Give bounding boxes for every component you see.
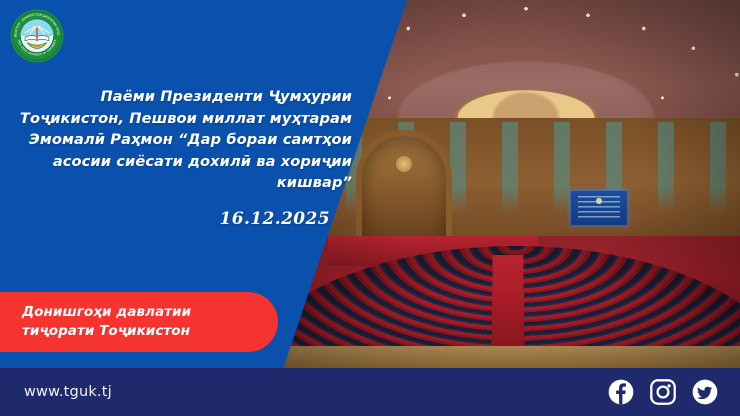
university-name-banner: Донишгоҳи давлатии тиҷорати Тоҷикистон [0, 292, 278, 352]
university-name-line-1: Донишгоҳи давлатии [22, 303, 191, 322]
instagram-icon[interactable] [650, 379, 676, 405]
footer-bar: www.tguk.tj [0, 368, 740, 416]
twitter-icon[interactable] [692, 379, 718, 405]
headline-line-1: Паёми Президенти Ҷумҳурии [0, 86, 352, 108]
social-links [608, 379, 718, 405]
event-date: 16.12.2025 [0, 209, 330, 229]
headline-text: Паёми Президенти Ҷумҳурии Тоҷикистон, Пе… [0, 86, 352, 194]
university-seal-logo: ТОҶИКИСТОН · ДОНИШГОҲИ ДАВЛАТИИ ТИҶОРАТИ… [10, 9, 64, 63]
announcement-banner: ТОҶИКИСТОН · ДОНИШГОҲИ ДАВЛАТИИ ТИҶОРАТИ… [0, 0, 740, 416]
headline-line-3: Эмомалӣ Раҳмон “Дар бораи самтҳои [0, 129, 352, 151]
headline-line-2: Тоҷикистон, Пешвои миллат муҳтарам [0, 108, 352, 130]
website-url[interactable]: www.tguk.tj [24, 384, 112, 400]
headline-line-4: асосии сиёсати дохилӣ ва хориҷии [0, 151, 352, 173]
headline-line-5: кишвар” [0, 172, 352, 194]
facebook-icon[interactable] [608, 379, 634, 405]
university-name-text: Донишгоҳи давлатии тиҷорати Тоҷикистон [22, 303, 191, 341]
university-name-line-2: тиҷорати Тоҷикистон [22, 322, 191, 341]
